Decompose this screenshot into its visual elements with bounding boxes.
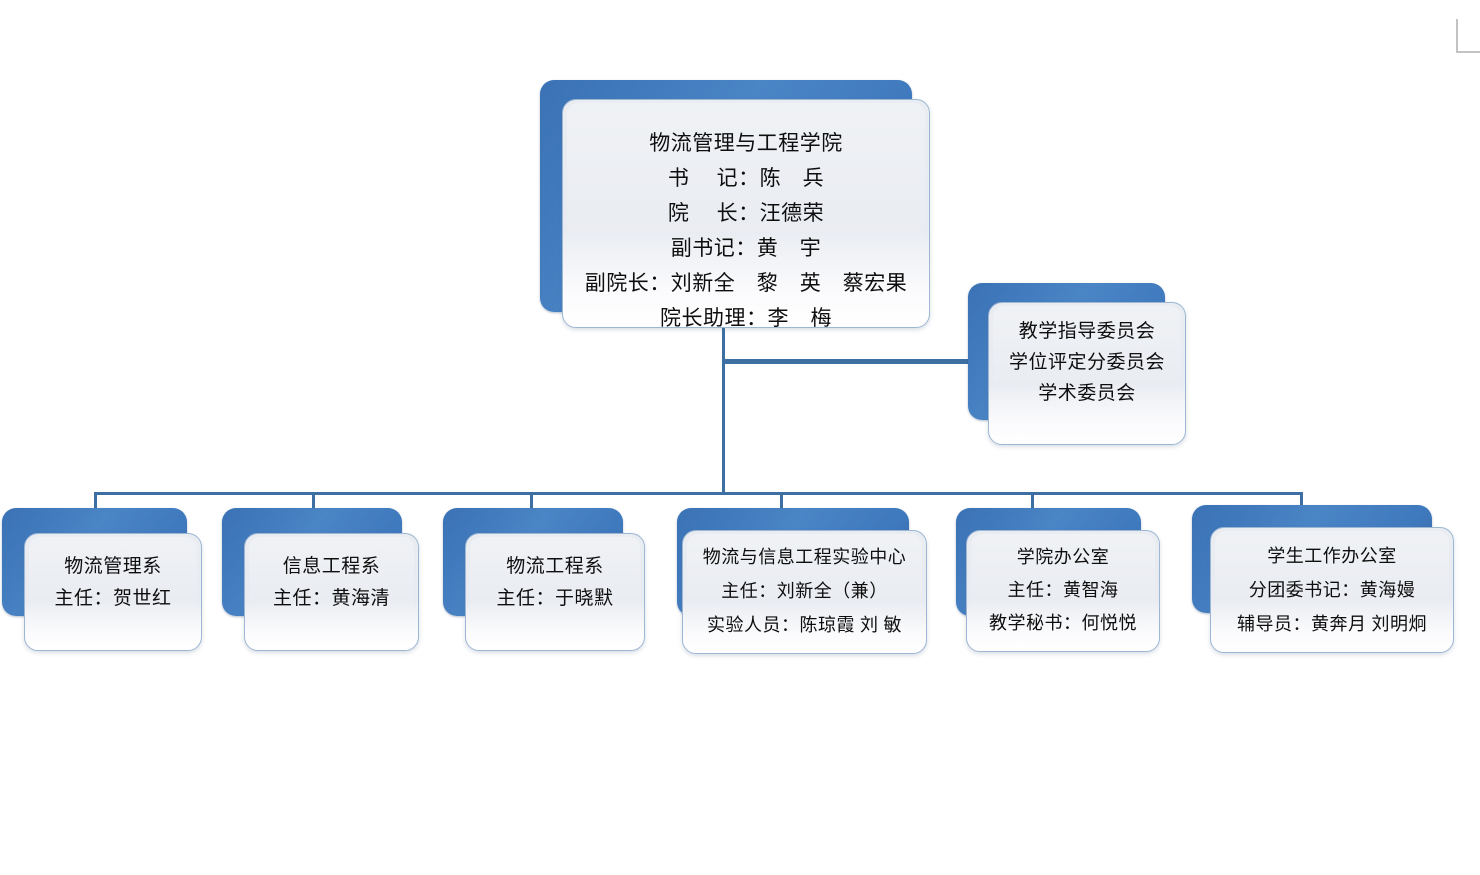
node-dept-lm-card[interactable]: 物流管理系 主任：贺世红 [24,533,202,651]
node-committees-line-1: 教学指导委员会 [1019,316,1156,347]
node-college-line-5: 副院长：刘新全 黎 英 蔡宏果 [585,266,908,301]
node-college-line-6: 院长助理：李 梅 [660,301,832,336]
node-dept-lm-line-1: 物流管理系 [64,551,162,583]
node-college-line-3: 院 长：汪德荣 [668,196,824,231]
node-college-line-2: 书 记：陈 兵 [668,161,824,196]
node-dept-le-line-1: 物流工程系 [506,551,604,583]
node-dept-lm[interactable]: 物流管理系 主任：贺世红 [2,508,224,656]
node-dept-lm-line-2: 主任：贺世红 [54,583,171,615]
node-dept-ie-line-1: 信息工程系 [283,551,381,583]
node-dept-ie-line-2: 主任：黄海清 [273,583,390,615]
node-office[interactable]: 学院办公室 主任：黄智海 教学秘书：何悦悦 [956,508,1168,656]
node-dept-ie-card[interactable]: 信息工程系 主任：黄海清 [244,533,419,651]
node-dept-le-line-2: 主任：于晓默 [496,583,613,615]
node-committees[interactable]: 教学指导委员会 学位评定分委员会 学术委员会 [968,283,1188,446]
node-committees-line-3: 学术委员会 [1038,378,1136,409]
node-committees-card[interactable]: 教学指导委员会 学位评定分委员会 学术委员会 [988,302,1186,445]
node-college-line-4: 副书记：黄 宇 [671,231,822,266]
node-lab-center-line-2: 主任：刘新全（兼） [721,574,888,608]
node-lab-center-line-3: 实验人员：陈琼霞 刘 敏 [707,608,902,642]
node-student-aff-line-1: 学生工作办公室 [1267,539,1397,573]
node-lab-center-card[interactable]: 物流与信息工程实验中心 主任：刘新全（兼） 实验人员：陈琼霞 刘 敏 [682,530,927,654]
connector-college-stem [722,325,725,495]
node-college-card[interactable]: 物流管理与工程学院 书 记：陈 兵 院 长：汪德荣 副书记：黄 宇 副院长：刘新… [562,99,930,328]
node-student-aff-card[interactable]: 学生工作办公室 分团委书记：黄海嫚 辅导员：黄奔月 刘明炯 [1210,527,1454,653]
page-corner-mark [1456,19,1480,53]
node-dept-le[interactable]: 物流工程系 主任：于晓默 [443,508,665,656]
node-dept-le-card[interactable]: 物流工程系 主任：于晓默 [465,533,645,651]
page-corner-mark-vertical [1456,19,1458,53]
node-college[interactable]: 物流管理与工程学院 书 记：陈 兵 院 长：汪德荣 副书记：黄 宇 副院长：刘新… [540,80,932,330]
node-committees-line-2: 学位评定分委员会 [1009,347,1165,378]
org-chart-canvas: 物流管理与工程学院 书 记：陈 兵 院 长：汪德荣 副书记：黄 宇 副院长：刘新… [0,0,1480,875]
node-office-card[interactable]: 学院办公室 主任：黄智海 教学秘书：何悦悦 [966,530,1160,652]
page-corner-mark-horizontal [1456,51,1480,53]
node-college-line-1: 物流管理与工程学院 [649,126,843,161]
node-student-aff-line-2: 分团委书记：黄海嫚 [1249,573,1416,607]
connector-distribution-bar [94,492,1303,495]
node-dept-ie[interactable]: 信息工程系 主任：黄海清 [222,508,444,656]
node-student-aff-line-3: 辅导员：黄奔月 刘明炯 [1237,607,1427,641]
node-lab-center-line-1: 物流与信息工程实验中心 [703,540,907,574]
node-office-line-1: 学院办公室 [1017,541,1110,574]
node-student-aff[interactable]: 学生工作办公室 分团委书记：黄海嫚 辅导员：黄奔月 刘明炯 [1192,505,1462,657]
node-office-line-2: 主任：黄智海 [1008,574,1119,607]
connector-college-to-committees [722,359,974,364]
node-office-line-3: 教学秘书：何悦悦 [989,607,1137,640]
node-lab-center[interactable]: 物流与信息工程实验中心 主任：刘新全（兼） 实验人员：陈琼霞 刘 敏 [677,508,935,658]
